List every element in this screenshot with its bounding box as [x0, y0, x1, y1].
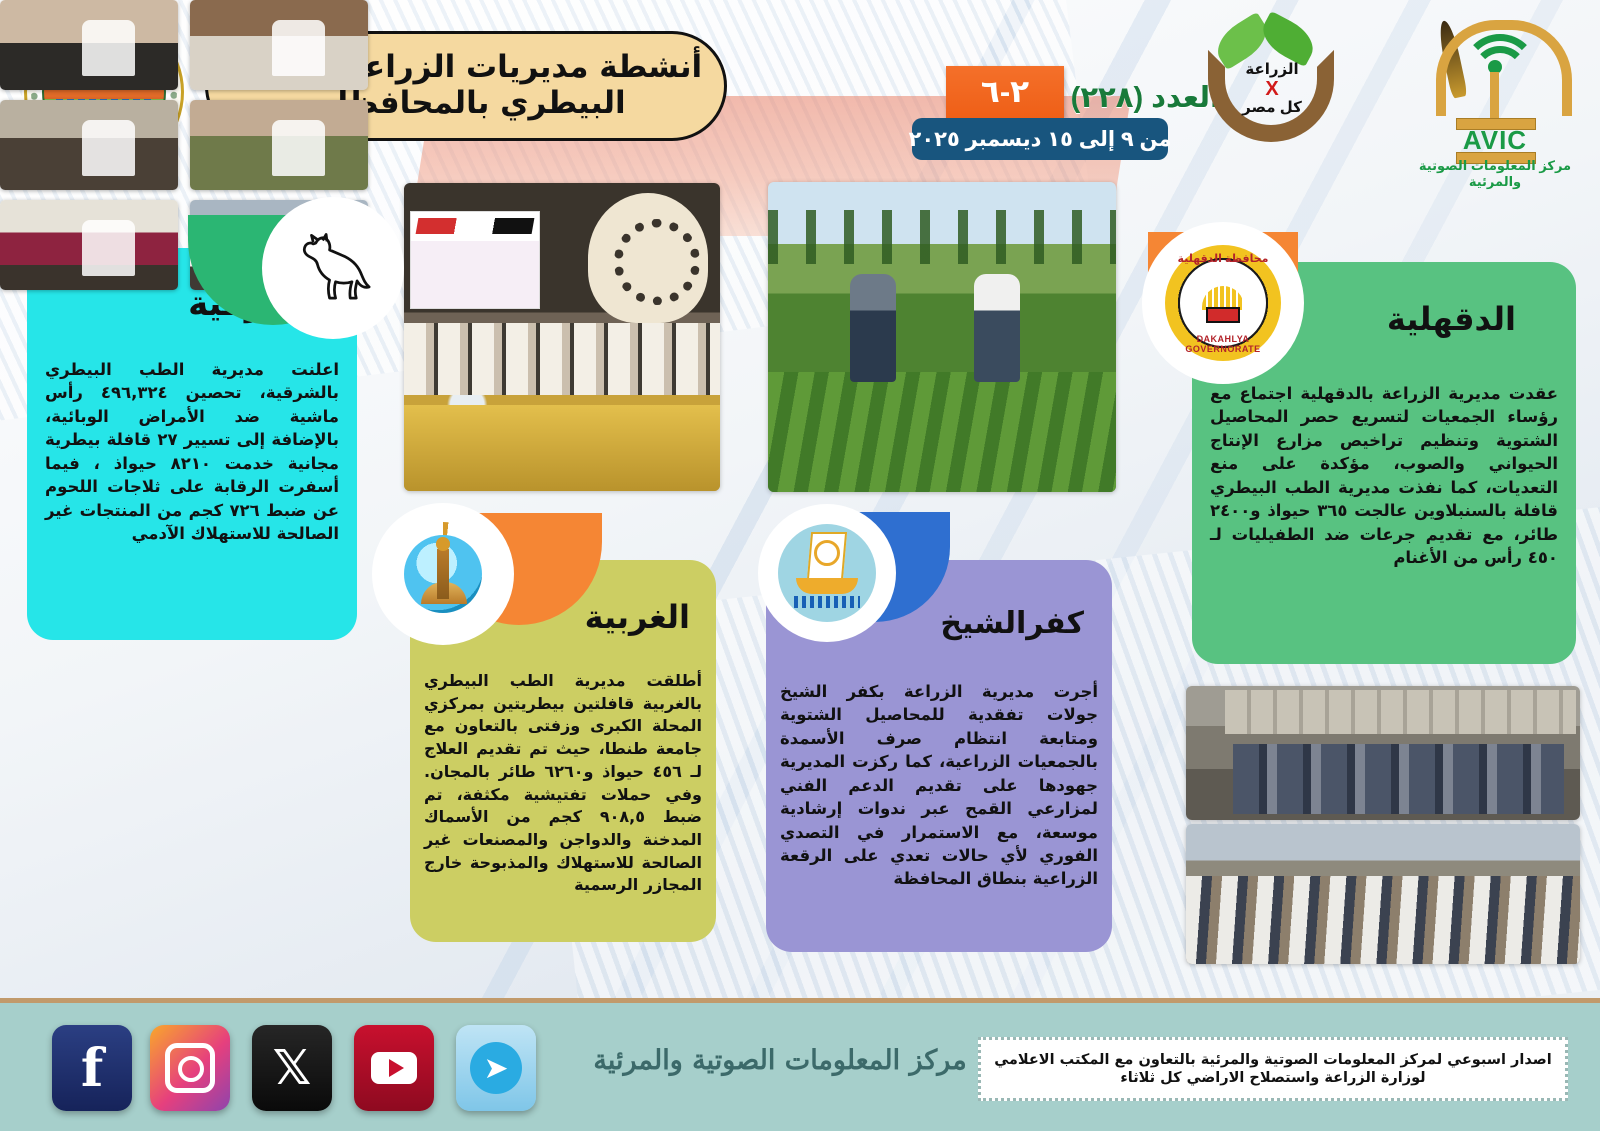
telegram-glyph: ➤	[470, 1042, 522, 1094]
date-range-bar: من ٩ إلى ١٥ ديسمبر ٢٠٢٥	[912, 118, 1168, 160]
issue-badge: ٢-٦	[946, 66, 1064, 118]
person-figure	[272, 120, 325, 176]
footer-bar: f 𝕏 ➤ مركز المعلومات الصوتية والمرئية اص…	[0, 998, 1600, 1131]
decor-drape	[588, 193, 708, 323]
boat-icon	[796, 578, 858, 594]
person-figure	[974, 274, 1020, 382]
photo-fertilizer-warehouse-inspection	[1186, 686, 1580, 820]
infographic-page: MALR أنشطة مديريات الزراعة والطب البيطري…	[0, 0, 1600, 1131]
person-figure	[82, 120, 135, 176]
people-row	[404, 323, 720, 395]
play-glyph	[371, 1052, 417, 1084]
signal-wave-icon	[1472, 46, 1528, 102]
dakahlia-governorate-emblem-icon: محافظة الدقهلية DAKAHLYA GOVERNORATE	[1165, 245, 1281, 361]
display-table	[404, 405, 720, 491]
kafr-elsheikh-body-text: أجرت مديرية الزراعة بكفر الشيخ جولات تفق…	[780, 680, 1098, 891]
horse-icon	[290, 231, 376, 305]
sun-icon	[814, 540, 840, 566]
dakahlia-emblem-badge: محافظة الدقهلية DAKAHLYA GOVERNORATE	[1142, 222, 1304, 384]
photo-grid-cell	[0, 200, 178, 290]
gharbia-body-text: أطلقت مديرية الطب البيطري بالغربية قافلت…	[424, 670, 702, 897]
dakahlia-governorate-name: الدقهلية	[1387, 300, 1516, 338]
person-figure	[272, 20, 325, 76]
x-twitter-icon[interactable]: 𝕏	[252, 1025, 332, 1111]
photo-grid-cell	[190, 0, 368, 90]
campaign-line-1: الزراعة	[1245, 61, 1298, 78]
water-waves-icon	[794, 596, 860, 608]
people-crowd	[1186, 876, 1580, 964]
footer-center-text: مركز المعلومات الصوتية والمرئية	[560, 1045, 1000, 1076]
stacked-sacks	[1225, 690, 1576, 734]
campaign-logo-text: الزراعة X كل مصر	[1224, 62, 1320, 117]
campaign-logo: الزراعة X كل مصر	[1196, 18, 1346, 148]
event-banner	[410, 211, 540, 309]
youtube-icon[interactable]	[354, 1025, 434, 1111]
photo-zucchini-field-inspection	[768, 182, 1116, 492]
instagram-icon[interactable]	[150, 1025, 230, 1111]
kafr-elsheikh-emblem-badge	[758, 504, 896, 642]
campaign-x-mark: X	[1224, 79, 1320, 100]
people-row	[1233, 744, 1564, 814]
palm-trees	[768, 210, 1116, 264]
photo-grid-cell	[0, 100, 178, 190]
campaign-line-2: كل مصر	[1242, 99, 1302, 116]
emblem-english-ring-text: DAKAHLYA GOVERNORATE	[1165, 334, 1281, 354]
photo-veterinary-campaign-event	[404, 183, 720, 491]
footer-note-text: اصدار اسبوعي لمركز المعلومات الصوتية وال…	[991, 1051, 1555, 1087]
minaret-icon	[437, 549, 449, 599]
photo-grid-cell	[190, 100, 368, 190]
telegram-icon[interactable]: ➤	[456, 1025, 536, 1111]
stem-shape	[1490, 72, 1499, 124]
sharqia-body-text: اعلنت مديرية الطب البيطري بالشرقية، تحصي…	[45, 358, 339, 545]
photo-grid-cell	[0, 0, 178, 90]
facebook-icon[interactable]: f	[52, 1025, 132, 1111]
avic-logo: AVIC	[1392, 6, 1592, 176]
kafr-elsheikh-emblem-icon	[778, 524, 876, 622]
instagram-glyph	[165, 1043, 215, 1093]
person-figure	[82, 220, 135, 276]
person-figure	[82, 20, 135, 76]
crop-rows	[768, 372, 1116, 492]
dakahlia-body-text: عقدت مديرية الزراعة بالدقهلية اجتماع مع …	[1210, 382, 1558, 569]
gharbia-emblem-badge	[372, 503, 514, 645]
emblem-arabic-ring-text: محافظة الدقهلية	[1165, 252, 1281, 265]
avic-logo-caption: مركز المعلومات الصوتية والمرئية	[1402, 158, 1588, 190]
gharbia-governorate-name: الغربية	[585, 598, 690, 636]
person-figure	[850, 274, 896, 382]
kafr-elsheikh-governorate-name: كفرالشيخ	[940, 606, 1084, 641]
footer-note-box: اصدار اسبوعي لمركز المعلومات الصوتية وال…	[978, 1037, 1568, 1101]
flag-icon	[1206, 307, 1240, 323]
photo-livestock-market-inspection	[1186, 824, 1580, 964]
sharqia-emblem-badge	[262, 197, 404, 339]
gear-minaret-icon	[391, 522, 495, 626]
